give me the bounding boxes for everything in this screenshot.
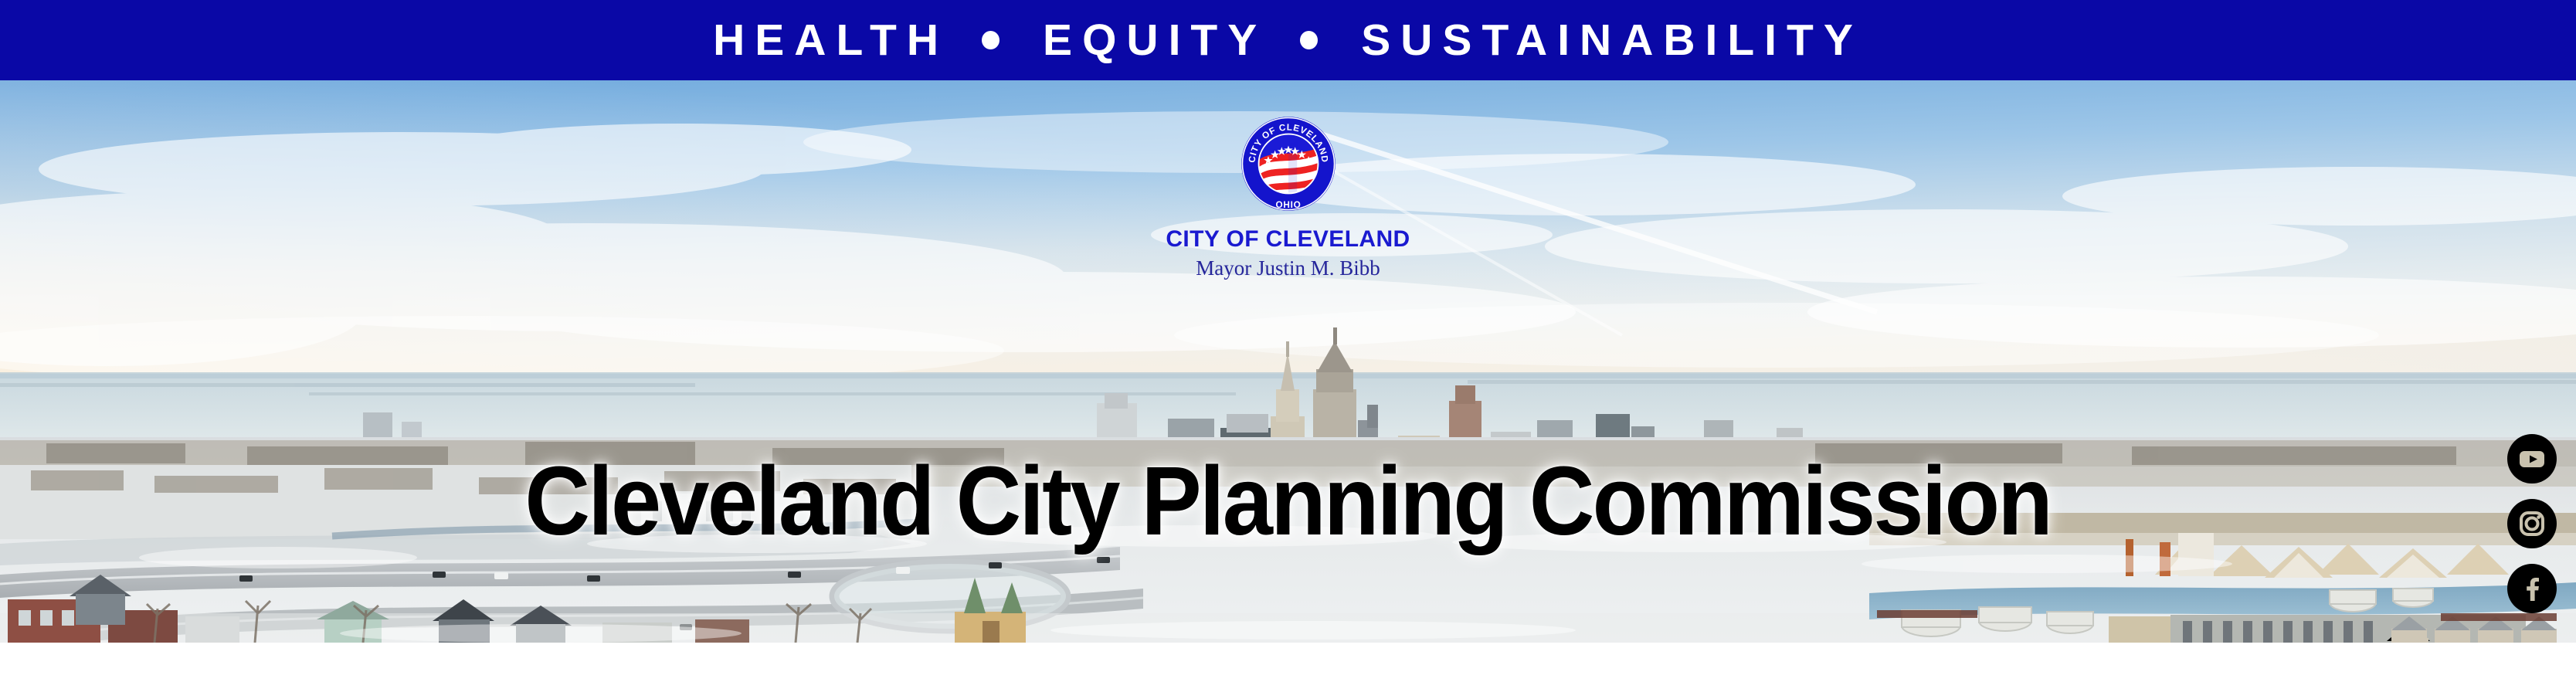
slogan-word-equity: EQUITY [1043, 19, 1267, 63]
mayor-name-label: Mayor Justin M. Bibb [1196, 258, 1380, 279]
social-links [2507, 434, 2557, 613]
slogan-banner: HEALTH EQUITY SUSTAINABILITY [0, 0, 2576, 80]
youtube-link[interactable] [2507, 434, 2557, 484]
slogan-word-sustainability: SUSTAINABILITY [1361, 19, 1863, 63]
bottom-white-strip [0, 643, 2576, 682]
page-root: HEALTH EQUITY SUSTAINABILITY [0, 0, 2576, 682]
instagram-link[interactable] [2507, 499, 2557, 548]
slogan-separator-dot-2 [1300, 31, 1318, 49]
city-identity-block: CITY OF CLEVELAND OHIO CITY OF CLEVELAND… [0, 116, 2576, 279]
svg-text:OHIO: OHIO [1275, 200, 1301, 210]
city-of-cleveland-seal-icon: CITY OF CLEVELAND OHIO [1240, 116, 1336, 212]
facebook-icon [2517, 573, 2547, 604]
slogan-word-health: HEALTH [713, 19, 949, 63]
slogan-separator-dot-1 [982, 31, 1000, 49]
slogan-inner: HEALTH EQUITY SUSTAINABILITY [713, 19, 1863, 63]
facebook-link[interactable] [2507, 564, 2557, 613]
youtube-icon [2517, 443, 2547, 474]
city-name-label: CITY OF CLEVELAND [1166, 228, 1410, 251]
instagram-icon [2517, 508, 2547, 539]
